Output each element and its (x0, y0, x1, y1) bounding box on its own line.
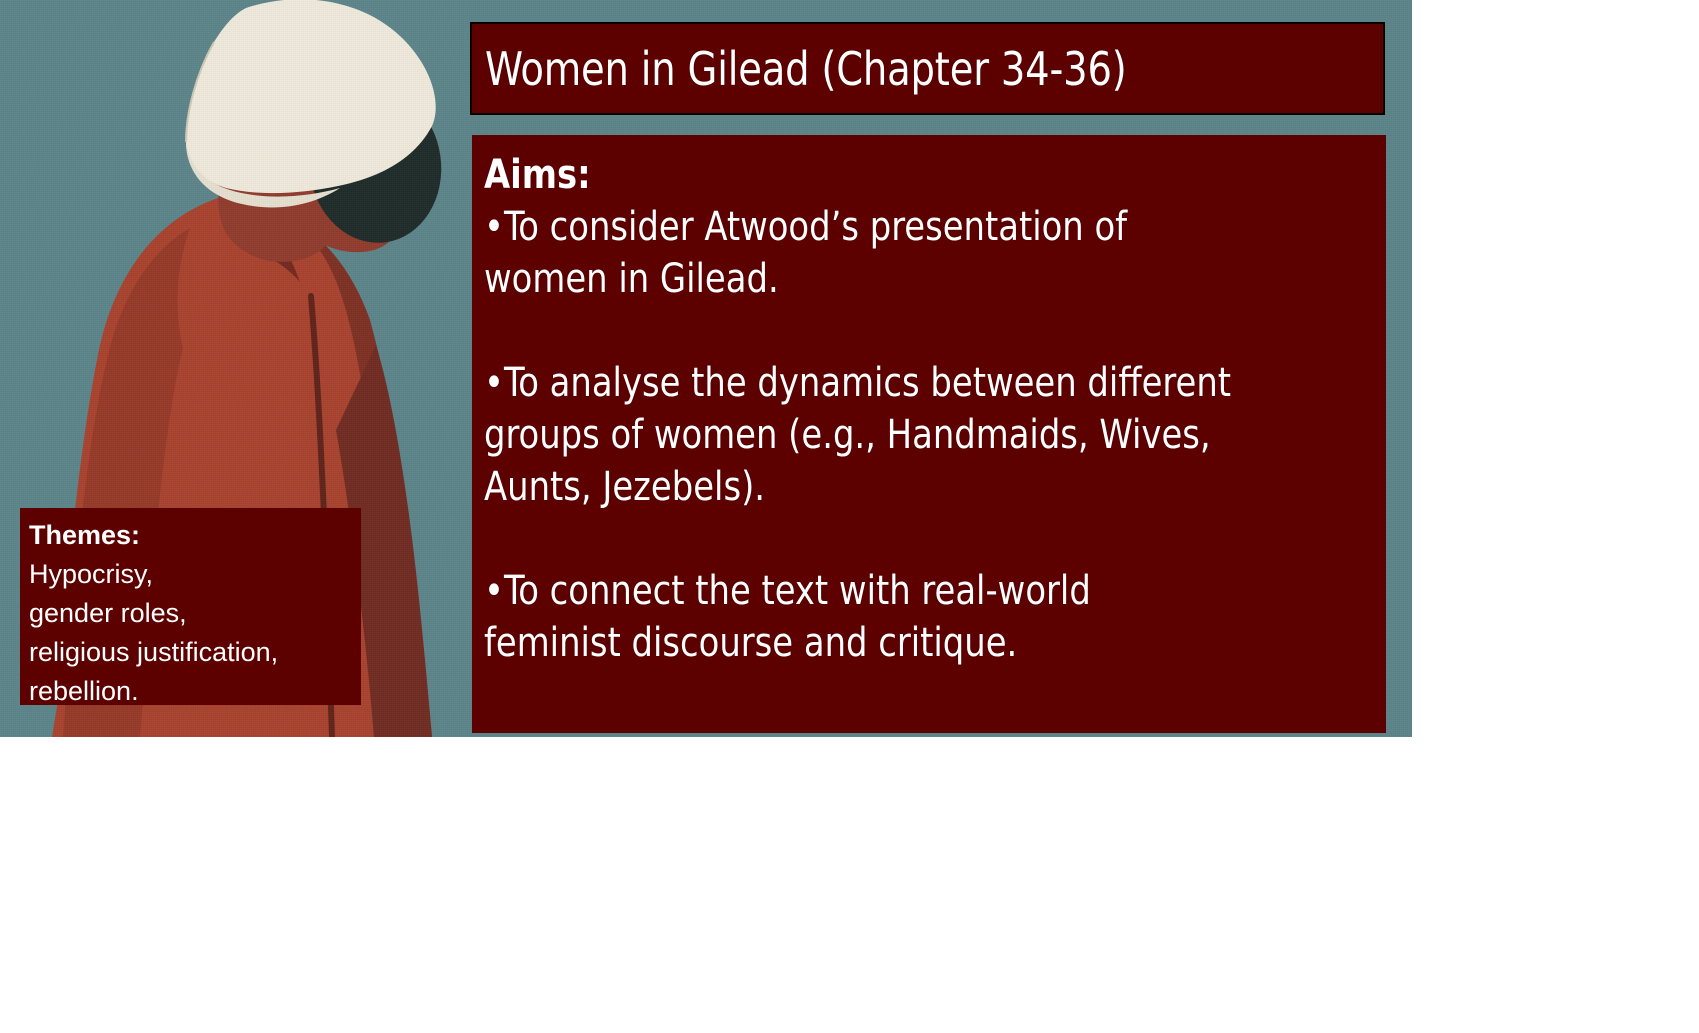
aims-line: women in Gilead. (484, 253, 1322, 305)
aims-box: Aims: •To consider Atwood’s presentation… (472, 135, 1386, 733)
themes-line: Hypocrisy, (29, 555, 361, 594)
themes-line: rebellion. (29, 672, 361, 711)
aims-line: feminist discourse and critique. (484, 617, 1322, 669)
slide-title-box: Women in Gilead (Chapter 34-36) (470, 22, 1385, 115)
aims-line: groups of women (e.g., Handmaids, Wives, (484, 409, 1322, 461)
aims-spacer (484, 305, 1376, 357)
themes-line: gender roles, (29, 594, 361, 633)
themes-line: religious justification, (29, 633, 361, 672)
slide-canvas: Women in Gilead (Chapter 34-36) Aims: •T… (0, 0, 1412, 737)
aims-line: •To connect the text with real-world (484, 565, 1322, 617)
page-title: Women in Gilead (Chapter 34-36) (472, 42, 1127, 96)
aims-line: •To consider Atwood’s presentation of (484, 201, 1322, 253)
themes-heading: Themes: (29, 516, 361, 555)
aims-line: Aunts, Jezebels). (484, 461, 1322, 513)
themes-box: Themes: Hypocrisy, gender roles, religio… (20, 508, 361, 705)
aims-line: •To analyse the dynamics between differe… (484, 357, 1322, 409)
aims-spacer (484, 513, 1376, 565)
aims-heading: Aims: (484, 149, 1322, 201)
